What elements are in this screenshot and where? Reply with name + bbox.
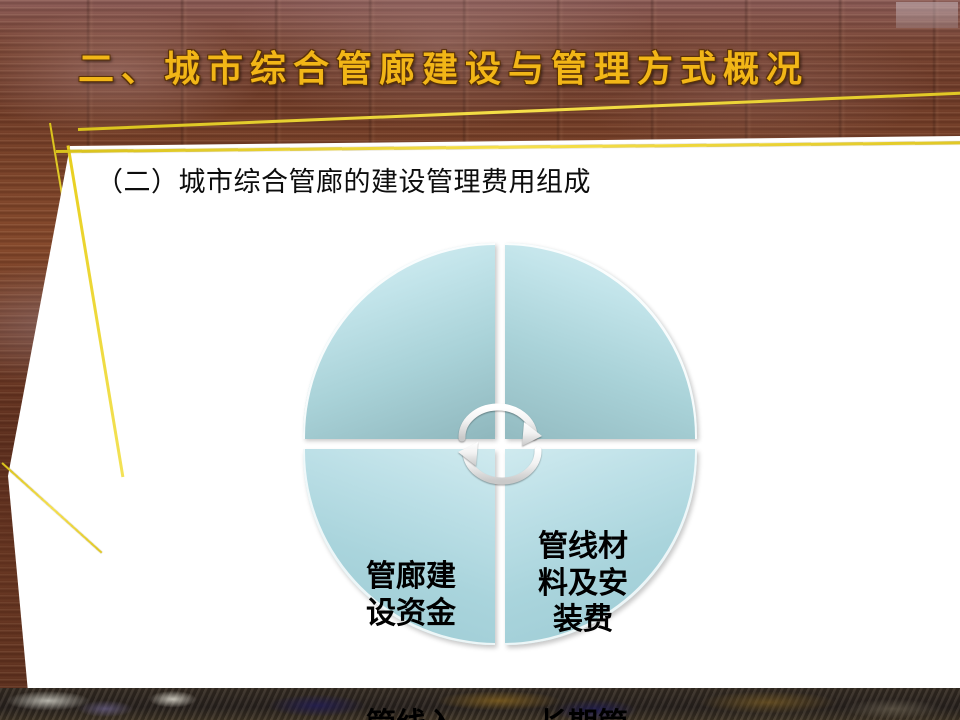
slide-canvas: 二、城市综合管廊建设与管理方式概况 （二）城市综合管廊的建设管理费用组成 管廊建… bbox=[0, 0, 960, 720]
quadrant-label-top-right: 管线材 料及安 装费 bbox=[515, 529, 651, 639]
background-highlight-patch bbox=[896, 2, 958, 28]
quadrant-label-bottom-right: 长期管 理费 bbox=[515, 707, 651, 720]
quadrant-label-bottom-left: 管线入 沟费 bbox=[343, 707, 479, 720]
slide-subtitle: （二）城市综合管廊的建设管理费用组成 bbox=[96, 160, 591, 199]
slide-title: 二、城市综合管廊建设与管理方式概况 bbox=[78, 40, 918, 92]
quadrant-label-top-left: 管廊建 设资金 bbox=[343, 559, 479, 632]
quadrant-top-right[interactable] bbox=[505, 243, 697, 439]
quadrant-top-left[interactable] bbox=[303, 243, 495, 439]
footer-texture-band bbox=[0, 688, 960, 720]
cost-composition-diagram: 管廊建 设资金 管线材 料及安 装费 管线入 沟费 长期管 理费 bbox=[303, 243, 697, 645]
